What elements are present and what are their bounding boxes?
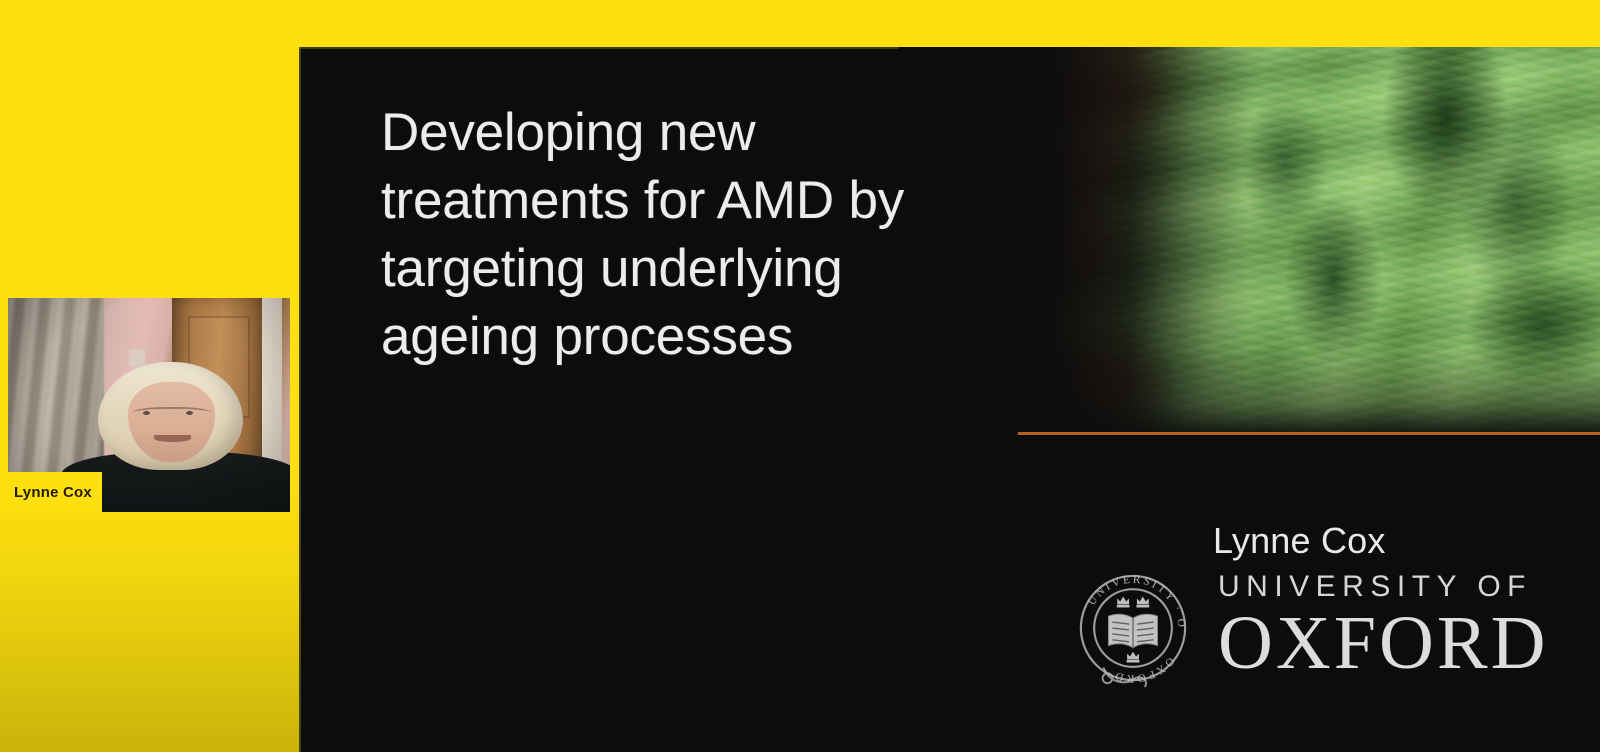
oxford-wordmark: UNIVERSITY OF OXFORD: [1218, 571, 1549, 686]
glasses-icon: [132, 407, 212, 423]
participant-mouth: [154, 435, 191, 442]
slide-photo: [899, 47, 1600, 435]
slide-divider-rule: [1018, 432, 1600, 435]
screen-share-view: Developing new treatments for AMD by tar…: [0, 0, 1600, 752]
oxford-logo-lockup: UNIVERSITY · OF · OXFORD ·: [1074, 565, 1549, 693]
participant-figure: [87, 362, 273, 512]
oxford-crest-icon: UNIVERSITY · OF · OXFORD ·: [1074, 565, 1192, 693]
participant-name-plate: Lynne Cox: [0, 472, 102, 512]
slide-speaker-name: Lynne Cox: [1213, 520, 1386, 562]
photo-bottom-fade: [899, 47, 1600, 435]
shared-slide[interactable]: Developing new treatments for AMD by tar…: [299, 47, 1600, 752]
oxford-wordmark-line2: OXFORD: [1218, 605, 1549, 683]
slide-left-edge: [299, 47, 301, 752]
slide-title: Developing new treatments for AMD by tar…: [381, 99, 941, 371]
oxford-wordmark-line1: UNIVERSITY OF: [1218, 571, 1549, 603]
participant-name-label: Lynne Cox: [14, 484, 92, 501]
